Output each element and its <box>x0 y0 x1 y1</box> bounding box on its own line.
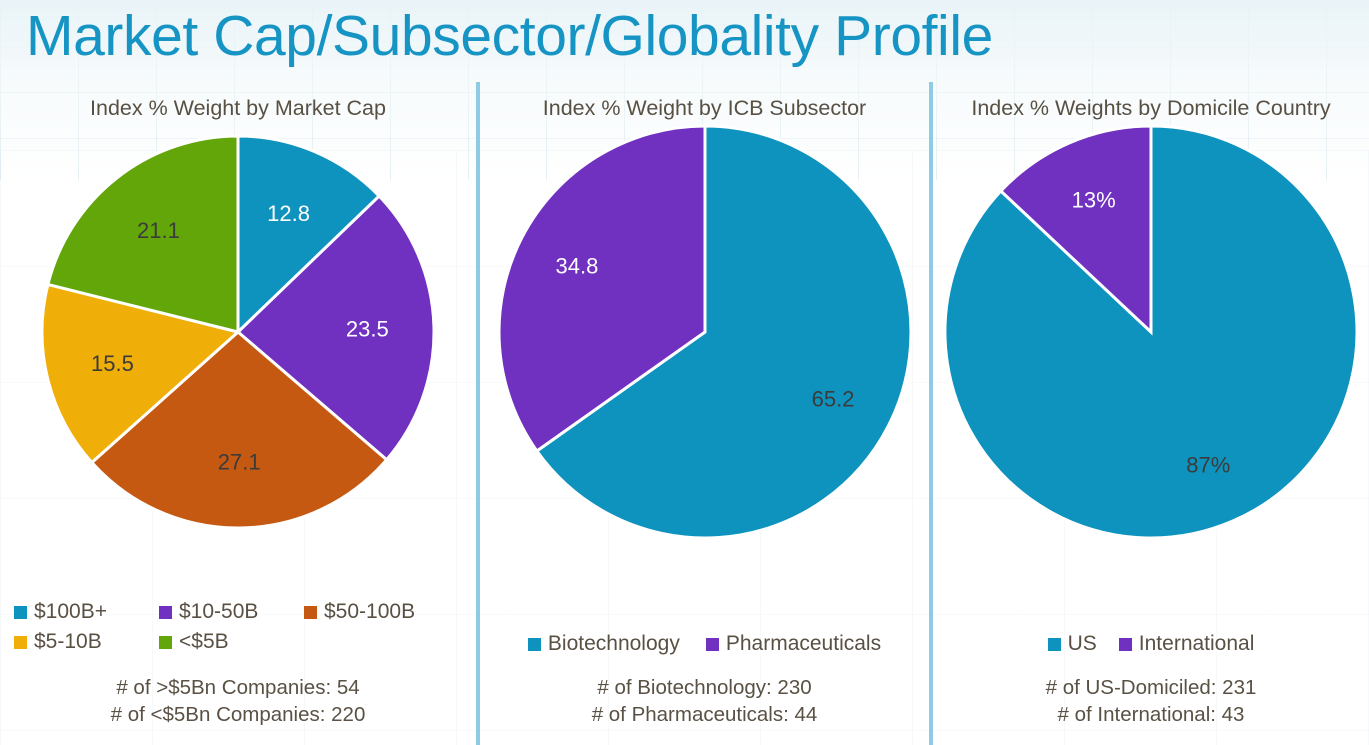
chart-title-market-cap: Index % Weight by Market Cap <box>0 86 476 122</box>
footnote-text: # of International: 43 <box>933 701 1369 728</box>
chart-panel-icb-subsector: Index % Weight by ICB Subsector 65.234.8… <box>480 86 929 745</box>
pie-slice-label: 12.8 <box>267 201 310 226</box>
pie-slice-label: 23.5 <box>346 316 389 341</box>
legend-label: Biotechnology <box>548 629 680 659</box>
legend-label: $5-10B <box>34 627 102 657</box>
footnote-text: # of US-Domiciled: 231 <box>933 674 1369 701</box>
footnote-text: # of Biotechnology: 230 <box>480 674 929 701</box>
legend-label: $10-50B <box>179 597 258 627</box>
pie-slice-label: 87% <box>1186 452 1230 477</box>
footnote-text: # of >$5Bn Companies: 54 <box>0 674 476 701</box>
legend-row: $5-10B<$5B <box>0 627 476 657</box>
footnotes-domicile-country: # of US-Domiciled: 231# of International… <box>933 674 1369 728</box>
footnote-text: # of Pharmaceuticals: 44 <box>480 701 929 728</box>
legend-item[interactable]: $5-10B <box>14 627 159 657</box>
pie-slice-label: 13% <box>1072 188 1116 213</box>
pie-slice-label: 15.5 <box>91 351 134 376</box>
legend-swatch-icon <box>159 636 172 649</box>
legend-label: $50-100B <box>324 597 415 627</box>
pie-svg-market-cap: 12.823.527.115.521.1 <box>18 122 458 542</box>
legend-item[interactable]: $10-50B <box>159 597 304 627</box>
chart-title-icb-subsector: Index % Weight by ICB Subsector <box>480 86 929 122</box>
legend-item[interactable]: $50-100B <box>304 597 449 627</box>
legend-label: Pharmaceuticals <box>726 629 881 659</box>
legend-item[interactable]: US <box>1048 629 1097 659</box>
legend-item[interactable]: Biotechnology <box>528 629 680 659</box>
pie-chart-market-cap: 12.823.527.115.521.1 <box>0 122 476 542</box>
slide-root: Market Cap/Subsector/Globality Profile I… <box>0 0 1369 745</box>
legend-swatch-icon <box>159 606 172 619</box>
pie-svg-domicile-country: 87%13% <box>936 122 1366 542</box>
legend-label: International <box>1139 629 1255 659</box>
legend-row: BiotechnologyPharmaceuticals <box>480 629 929 659</box>
pie-svg-icb-subsector: 65.234.8 <box>490 122 920 542</box>
chart-title-domicile-country: Index % Weights by Domicile Country <box>933 86 1369 122</box>
legend-icb-subsector: BiotechnologyPharmaceuticals <box>480 629 929 659</box>
chart-panel-market-cap: Index % Weight by Market Cap 12.823.527.… <box>0 86 476 745</box>
footnotes-market-cap: # of >$5Bn Companies: 54# of <$5Bn Compa… <box>0 674 476 728</box>
legend-item[interactable]: <$5B <box>159 627 304 657</box>
legend-swatch-icon <box>304 606 317 619</box>
pie-chart-domicile-country: 87%13% <box>933 122 1369 542</box>
page-title: Market Cap/Subsector/Globality Profile <box>26 2 993 70</box>
legend-item[interactable]: Pharmaceuticals <box>706 629 881 659</box>
legend-market-cap: $100B+$10-50B$50-100B$5-10B<$5B <box>0 597 476 657</box>
legend-swatch-icon <box>14 636 27 649</box>
legend-swatch-icon <box>1119 638 1132 651</box>
pie-slice-label: 34.8 <box>555 254 598 279</box>
legend-item[interactable]: International <box>1119 629 1255 659</box>
legend-domicile-country: USInternational <box>933 629 1369 659</box>
legend-label: <$5B <box>179 627 229 657</box>
legend-swatch-icon <box>706 638 719 651</box>
legend-item[interactable]: $100B+ <box>14 597 159 627</box>
pie-slice-label: 27.1 <box>218 449 261 474</box>
footnote-text: # of <$5Bn Companies: 220 <box>0 701 476 728</box>
legend-swatch-icon <box>14 606 27 619</box>
footnotes-icb-subsector: # of Biotechnology: 230# of Pharmaceutic… <box>480 674 929 728</box>
legend-swatch-icon <box>528 638 541 651</box>
legend-row: $100B+$10-50B$50-100B <box>0 597 476 627</box>
legend-row: USInternational <box>933 629 1369 659</box>
pie-slice-label: 65.2 <box>811 386 854 411</box>
legend-label: $100B+ <box>34 597 107 627</box>
chart-panel-domicile-country: Index % Weights by Domicile Country 87%1… <box>933 86 1369 745</box>
legend-label: US <box>1068 629 1097 659</box>
pie-chart-icb-subsector: 65.234.8 <box>480 122 929 542</box>
legend-swatch-icon <box>1048 638 1061 651</box>
pie-slice-label: 21.1 <box>137 218 180 243</box>
